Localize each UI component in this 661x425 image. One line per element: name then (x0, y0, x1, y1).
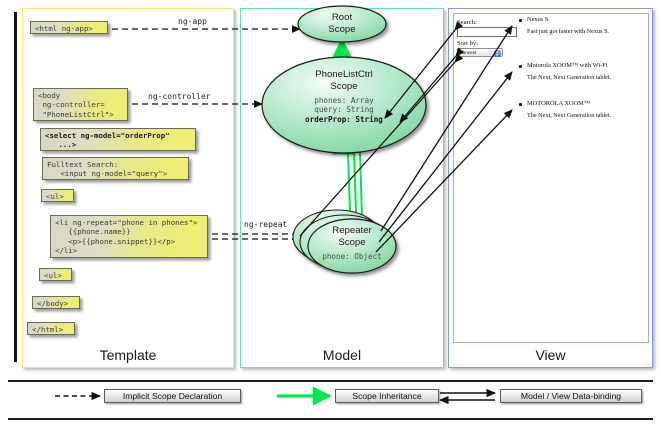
code-box-ul-close: <ul> (39, 268, 72, 281)
column-label-template: Template (23, 347, 233, 363)
column-template: Template (22, 8, 234, 368)
left-margin-bar (14, 12, 17, 362)
legend-model-view-data-binding: Model / View Data-binding (500, 389, 642, 403)
phone-snippet: Fast just got faster with Nexus S. (519, 28, 661, 35)
phone-snippet: The Next, Next Generation tablet. (519, 74, 661, 81)
sort-select-value: Newest (460, 50, 476, 56)
phone-name: MOTOROLA XOOM™ (519, 100, 661, 107)
legend-scope-inheritance: Scope Inheritance (335, 389, 439, 403)
phone-list-item: Nexus S Fast just got faster with Nexus … (519, 16, 661, 35)
code-box-html-tag: <html ng-app> (30, 21, 108, 34)
sort-label: Sort by: (457, 40, 478, 47)
column-label-model: Model (241, 347, 443, 363)
code-box-html-close: </html> (27, 322, 75, 335)
search-input[interactable] (457, 27, 517, 37)
code-box-body-close: </body> (32, 296, 80, 309)
label-ng-app: ng-app (178, 17, 207, 26)
search-label: Search: (457, 19, 477, 26)
label-ng-repeat: ng-repeat (244, 220, 287, 229)
sort-select[interactable]: Newest (457, 48, 503, 57)
legend-bottom-rule (8, 418, 653, 420)
column-label-view: View (449, 347, 652, 363)
column-model: Model (240, 8, 444, 368)
phone-name: Motorola XOOM™ with Wi-Fi (519, 62, 661, 69)
code-box-select-tag: <select ng-model="orderProp" ...> (40, 128, 196, 151)
code-box-input-tag: Fulltext Search: <input ng-model="query"… (42, 157, 189, 180)
diagram-canvas: Template Model View <html ng-app> <body … (0, 0, 661, 425)
phone-name: Nexus S (519, 16, 661, 23)
code-box-ul-open: <ul> (41, 189, 74, 202)
phone-snippet: The Next, Next Generation tablet. (519, 112, 661, 119)
legend-implicit-scope-declaration: Implicit Scope Declaration (104, 389, 241, 403)
legend-top-rule (8, 380, 653, 382)
code-box-body-tag: <body ng-controller= "PhoneListCtrl"> (33, 88, 128, 121)
code-box-li-repeat: <li ng-repeat="phone in phones"> {{phone… (50, 215, 208, 258)
chevron-updown-icon[interactable] (494, 50, 501, 57)
phone-list-item: MOTOROLA XOOM™ The Next, Next Generation… (519, 100, 661, 119)
phone-list-item: Motorola XOOM™ with Wi-Fi The Next, Next… (519, 62, 661, 81)
label-ng-controller: ng-controller (148, 92, 211, 101)
